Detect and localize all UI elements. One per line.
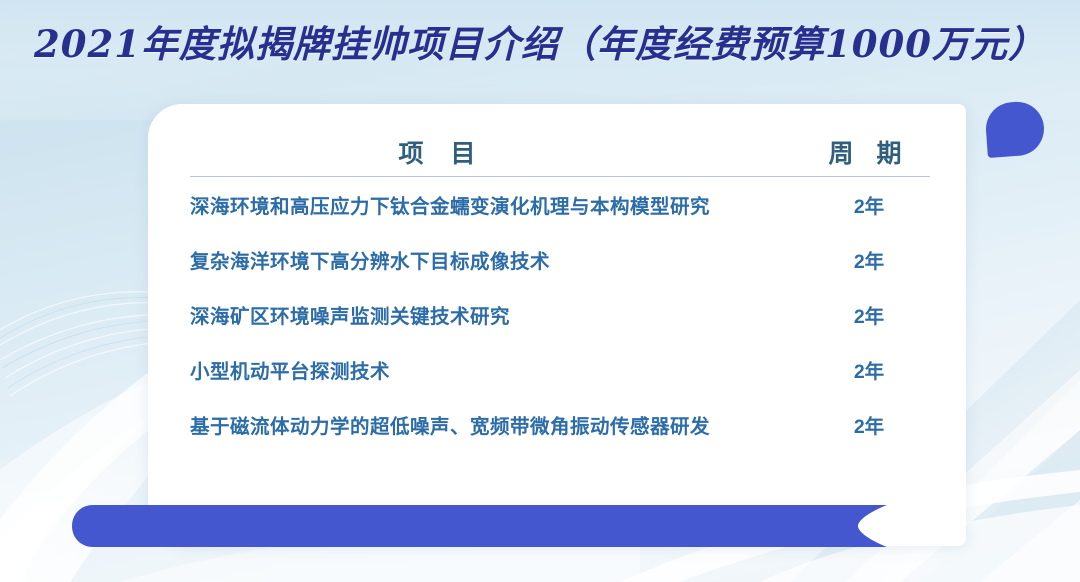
project-name: 小型机动平台探测技术 bbox=[190, 355, 814, 384]
teardrop-icon bbox=[984, 100, 1046, 158]
ribbon-bar bbox=[72, 505, 924, 547]
project-table: 项 目 周 期 深海环境和高压应力下钛合金蠕变演化机理与本构模型研究 2年 复杂… bbox=[190, 122, 930, 452]
column-header-period: 周 期 bbox=[814, 134, 930, 170]
project-period: 2年 bbox=[814, 355, 930, 384]
project-name: 复杂海洋环境下高分辨水下目标成像技术 bbox=[190, 245, 814, 274]
table-row: 基于磁流体动力学的超低噪声、宽频带微角振动传感器研发 2年 bbox=[190, 397, 930, 452]
project-period: 2年 bbox=[814, 300, 930, 329]
page-title: 2021年度拟揭牌挂帅项目介绍（年度经费预算1000万元） bbox=[0, 14, 1080, 68]
project-name: 深海环境和高压应力下钛合金蠕变演化机理与本构模型研究 bbox=[190, 190, 814, 219]
slide-root: 2021年度拟揭牌挂帅项目介绍（年度经费预算1000万元） 项 目 周 期 深海… bbox=[0, 0, 1080, 582]
column-header-project: 项 目 bbox=[190, 134, 814, 170]
table-row: 复杂海洋环境下高分辨水下目标成像技术 2年 bbox=[190, 232, 930, 287]
project-name: 深海矿区环境噪声监测关键技术研究 bbox=[190, 300, 814, 329]
project-period: 2年 bbox=[814, 245, 930, 274]
project-period: 2年 bbox=[814, 190, 930, 219]
table-row: 小型机动平台探测技术 2年 bbox=[190, 342, 930, 397]
project-period: 2年 bbox=[814, 410, 930, 439]
table-header-row: 项 目 周 期 bbox=[190, 122, 930, 177]
table-row: 深海环境和高压应力下钛合金蠕变演化机理与本构模型研究 2年 bbox=[190, 177, 930, 232]
project-name: 基于磁流体动力学的超低噪声、宽频带微角振动传感器研发 bbox=[190, 410, 814, 439]
table-row: 深海矿区环境噪声监测关键技术研究 2年 bbox=[190, 287, 930, 342]
